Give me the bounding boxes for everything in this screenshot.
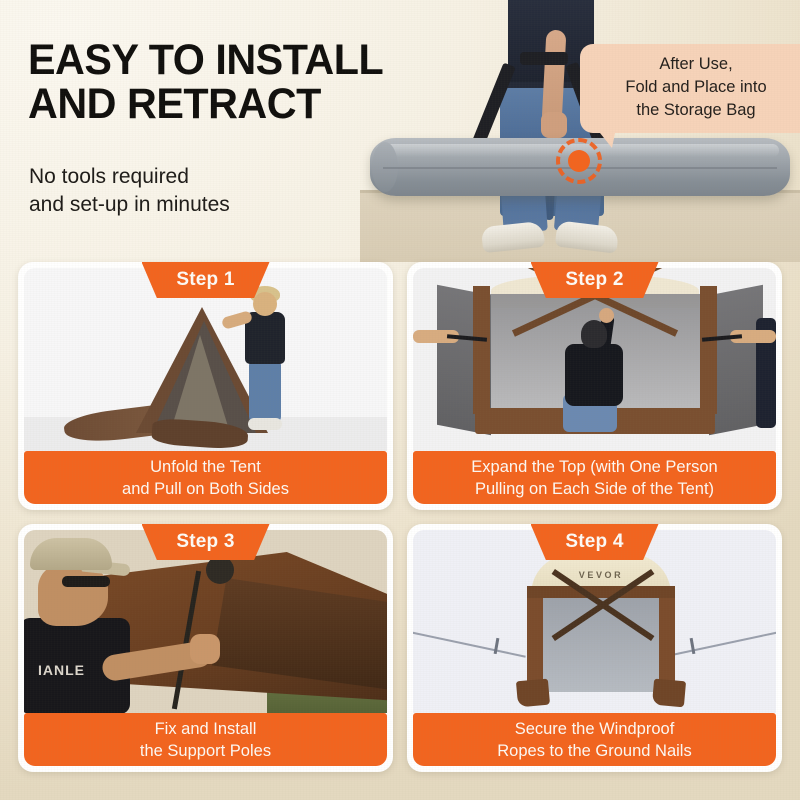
- step-2-badge-label: Step 2: [565, 269, 623, 291]
- subheadline-line-2: and set-up in minutes: [29, 191, 230, 219]
- step-2-person-head: [581, 320, 607, 348]
- step-3-center-hub: [206, 556, 234, 584]
- step-1-caption-line-1: Unfold the Tent: [150, 456, 261, 478]
- step-1-tent-inner: [170, 335, 230, 433]
- step-3-badge: Step 3: [142, 524, 270, 560]
- step-1-person-shoes: [248, 418, 282, 430]
- callout-after-use: After Use, Fold and Place into the Stora…: [580, 44, 800, 133]
- hero-section: EASY TO INSTALL AND RETRACT No tools req…: [0, 0, 800, 262]
- step-2-person-body: [565, 344, 623, 406]
- step-1-person-legs: [249, 360, 281, 422]
- step-2-caption-line-1: Expand the Top (with One Person: [471, 456, 717, 478]
- step-1-caption: Unfold the Tent and Pull on Both Sides: [24, 451, 387, 504]
- sunglasses-icon: [62, 576, 110, 587]
- step-1-badge: Step 1: [142, 262, 270, 298]
- step-4-badge: Step 4: [531, 524, 659, 560]
- step-1-caption-line-2: and Pull on Both Sides: [122, 478, 289, 500]
- step-4-caption-line-1: Secure the Windproof: [515, 718, 675, 740]
- infographic-page: EASY TO INSTALL AND RETRACT No tools req…: [0, 0, 800, 800]
- step-2-caption-line-2: Pulling on Each Side of the Tent): [475, 478, 714, 500]
- step-4-leg-left: [516, 679, 550, 708]
- bag-strap-top: [520, 52, 568, 65]
- step-2-side-panel-right: [709, 285, 763, 435]
- step-card-4[interactable]: VEVOR Step 4 Secure the Windproof Ropes …: [407, 524, 782, 772]
- person-hand: [541, 112, 567, 138]
- step-2-badge: Step 2: [531, 262, 659, 298]
- step-1-badge-label: Step 1: [176, 269, 234, 291]
- step-card-1[interactable]: Step 1 Unfold the Tent and Pull on Both …: [18, 262, 393, 510]
- target-marker-dot: [568, 150, 590, 172]
- step-4-guy-rope-left: [413, 628, 526, 657]
- step-card-2[interactable]: Step 2 Expand the Top (with One Person P…: [407, 262, 782, 510]
- subheadline: No tools required and set-up in minutes: [29, 163, 230, 219]
- step-1-person-head: [253, 292, 277, 316]
- step-3-cap: [30, 538, 112, 570]
- step-3-caption-line-2: the Support Poles: [140, 740, 271, 762]
- step-4-badge-label: Step 4: [565, 531, 623, 553]
- callout-line-3: the Storage Bag: [590, 99, 800, 122]
- step-2-caption: Expand the Top (with One Person Pulling …: [413, 451, 776, 504]
- callout-line-2: Fold and Place into: [590, 76, 800, 99]
- step-3-caption: Fix and Install the Support Poles: [24, 713, 387, 766]
- callout-line-1: After Use,: [590, 53, 800, 76]
- step-3-person-face: [38, 564, 108, 626]
- headline-line-2: AND RETRACT: [28, 82, 393, 126]
- step-2-person-hand: [599, 308, 614, 323]
- step-3-shirt-text: IANLE: [38, 662, 85, 678]
- step-4-guy-rope-right: [663, 628, 776, 657]
- step-3-badge-label: Step 3: [176, 531, 234, 553]
- headline-line-1: EASY TO INSTALL: [28, 38, 393, 82]
- step-4-caption-line-2: Ropes to the Ground Nails: [497, 740, 691, 762]
- step-3-person-hand: [190, 634, 220, 664]
- step-3-caption-line-1: Fix and Install: [155, 718, 257, 740]
- step-card-3[interactable]: IANLE Step 3 Fix and Install the Support…: [18, 524, 393, 772]
- page-title: EASY TO INSTALL AND RETRACT: [28, 38, 408, 126]
- step-4-leg-right: [652, 679, 686, 708]
- step-4-caption: Secure the Windproof Ropes to the Ground…: [413, 713, 776, 766]
- step-4-top-bar: [527, 586, 675, 598]
- steps-grid: Step 1 Unfold the Tent and Pull on Both …: [18, 262, 782, 772]
- subheadline-line-1: No tools required: [29, 163, 230, 191]
